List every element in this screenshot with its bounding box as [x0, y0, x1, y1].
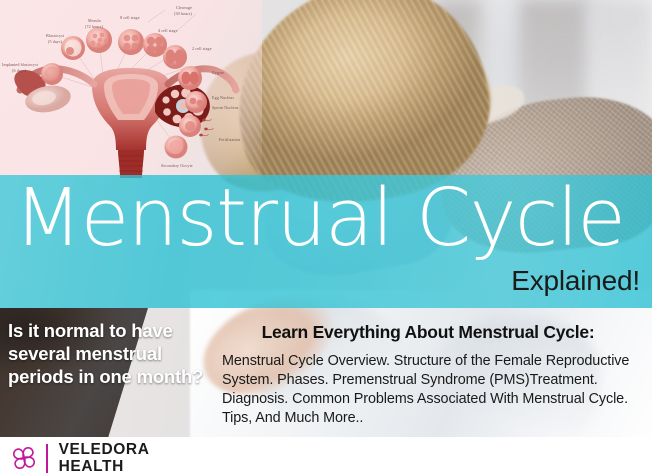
- diagram-sublabel: (72 hours): [85, 24, 103, 29]
- page-subtitle: Explained!: [511, 265, 640, 297]
- diagram-label: Secondary Oocyte: [161, 163, 193, 168]
- diagram-label: Egg Nucleus: [212, 95, 234, 100]
- diagram-label: Zygote: [212, 70, 224, 75]
- diagram-label: 8 cell stage: [120, 15, 140, 20]
- brand-name-line1: VELEDORA: [59, 441, 150, 458]
- uterus-anatomy-illustration: [0, 0, 262, 178]
- diagram-sublabel: (30 hours): [174, 11, 192, 16]
- learn-heading: Learn Everything About Menstrual Cycle:: [204, 322, 652, 343]
- diagram-label: Blastocyst: [46, 33, 64, 38]
- page-title: Menstrual Cycle: [14, 179, 652, 258]
- diagram-label: 4 cell stage: [158, 28, 178, 33]
- diagram-label: Sperm Nucleus: [212, 105, 238, 110]
- question-text: Is it normal to have several menstrual p…: [8, 320, 213, 388]
- brand-logo[interactable]: VELEDORA HEALTH: [9, 441, 150, 475]
- four-petal-flower-icon: [9, 443, 39, 473]
- learn-body-text: Menstrual Cycle Overview. Structure of t…: [222, 352, 642, 428]
- diagram-label: Implanted blastocyst: [2, 62, 38, 67]
- logo-divider: [46, 444, 48, 473]
- diagram-label: Cleavage: [176, 5, 192, 10]
- fertilization-diagram: Implanted blastocyst (6 days) Blastocyst…: [0, 0, 262, 178]
- poster-canvas: Implanted blastocyst (6 days) Blastocyst…: [0, 0, 652, 475]
- diagram-label: Morula: [88, 18, 101, 23]
- diagram-sublabel: (6 days): [12, 68, 26, 73]
- diagram-sublabel: (5 days): [48, 39, 62, 44]
- diagram-label: 2 cell stage: [192, 46, 212, 51]
- brand-name-line2: HEALTH: [59, 458, 150, 475]
- brand-name: VELEDORA HEALTH: [55, 441, 150, 475]
- diagram-label: Fertilization: [219, 137, 240, 142]
